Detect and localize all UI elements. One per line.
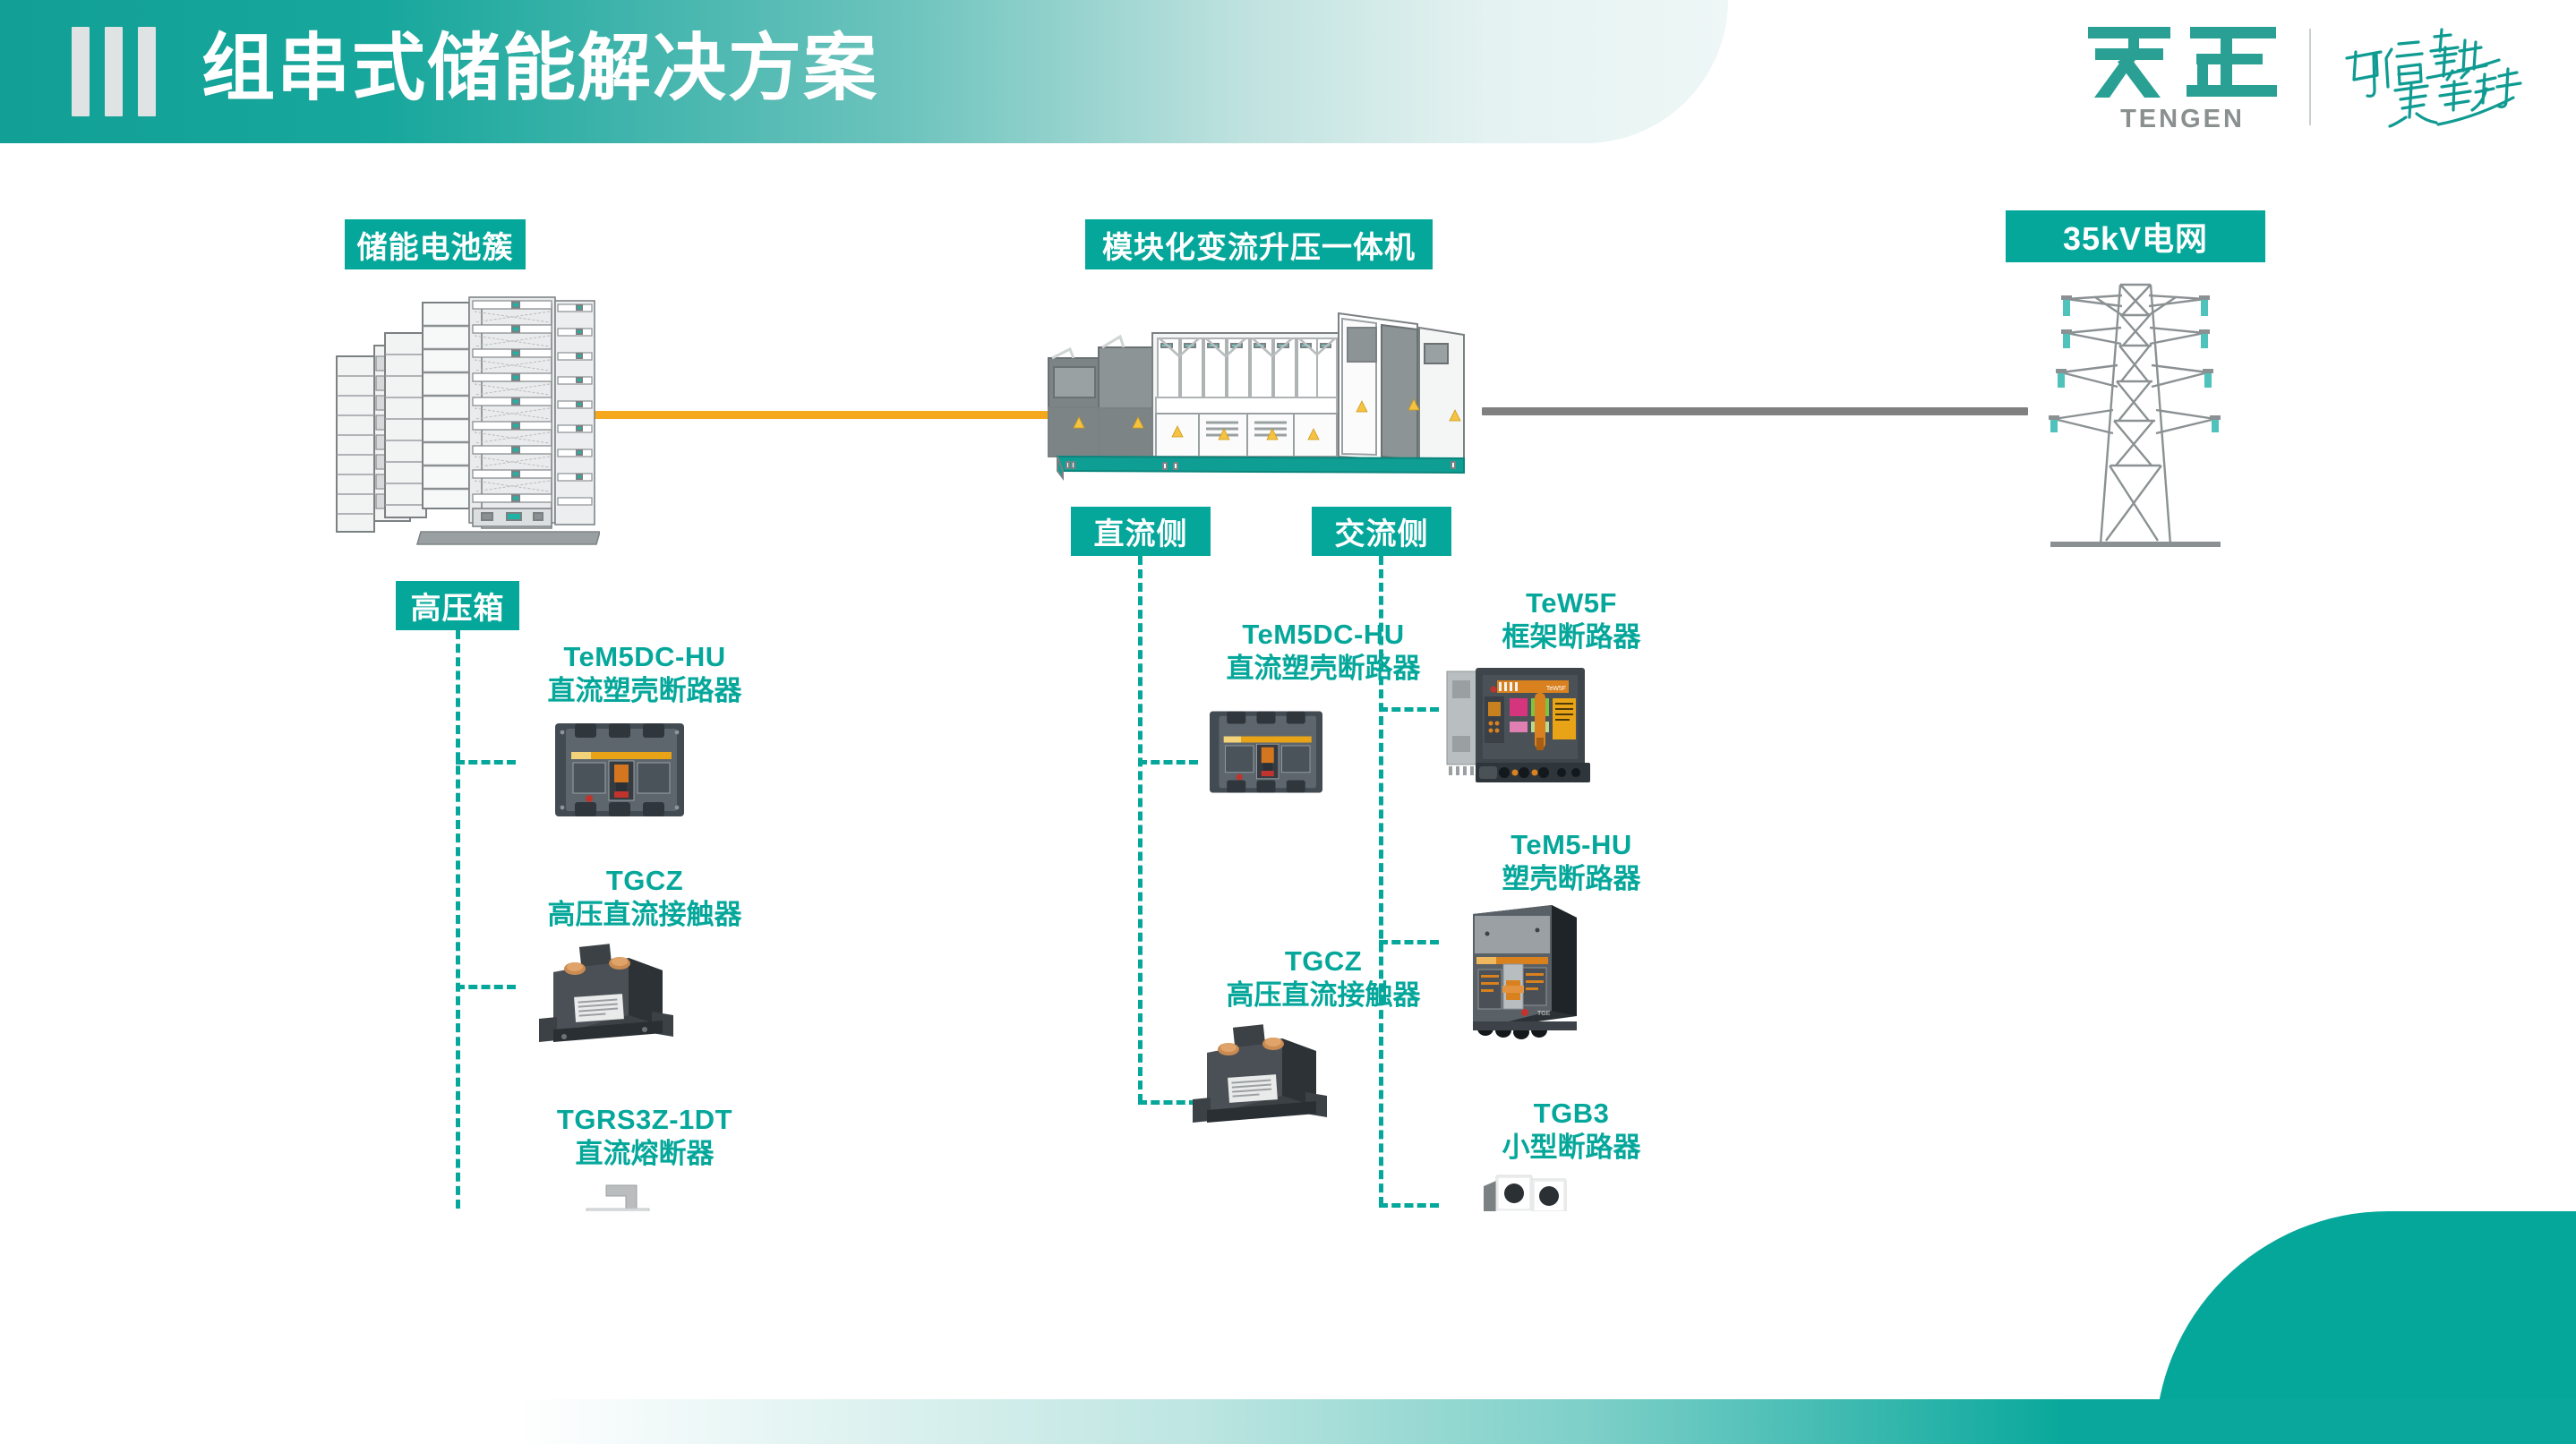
badge-battery-cluster: 储能电池簇 — [345, 219, 526, 269]
badge-pcs-container: 模块化变流升压一体机 — [1085, 219, 1433, 269]
device-name: 直流塑壳断路器 — [1180, 652, 1467, 686]
dc-side-trunk-line — [1138, 556, 1143, 1103]
dc-contactor-icon — [1182, 1021, 1334, 1128]
accent-bar-3 — [138, 27, 156, 116]
device-name: 小型断路器 — [1437, 1131, 1706, 1165]
device-label-tgb3: TGB3 小型断路器 — [1437, 1097, 1706, 1165]
device-name: 高压直流接触器 — [1180, 978, 1467, 1013]
ac-bus-line — [1482, 407, 2028, 415]
device-label-tem5dc-hu-dc: TeM5DC-HU 直流塑壳断路器 — [1180, 618, 1467, 686]
brand-name-en: TENGEN — [2120, 105, 2245, 134]
battery-rack-icon — [331, 279, 600, 575]
device-label-tgcz-hv: TGCZ 高压直流接触器 — [501, 864, 788, 932]
device-label-tew5f: TeW5F 框架断路器 — [1437, 586, 1706, 654]
hv-box-branch-2 — [456, 985, 516, 989]
ac-side-trunk-line — [1379, 556, 1383, 1206]
device-code: TeW5F — [1437, 586, 1706, 620]
footer-bar — [0, 1399, 2576, 1444]
badge-grid: 35kV电网 — [2006, 210, 2265, 262]
device-name: 框架断路器 — [1437, 620, 1706, 654]
device-name: 高压直流接触器 — [501, 898, 788, 932]
brand-mark: TENGEN — [2086, 20, 2279, 134]
footer-mask — [0, 1211, 2155, 1399]
mccb-dc-icon — [1203, 703, 1329, 801]
device-label-tgrs3z-1dt: TGRS3Z-1DT 直流熔断器 — [501, 1103, 788, 1171]
device-code: TGB3 — [1437, 1097, 1706, 1131]
device-code: TGRS3Z-1DT — [501, 1103, 788, 1137]
dc-bus-line — [586, 411, 1052, 419]
device-name: 塑壳断路器 — [1437, 862, 1706, 896]
device-name: 直流熔断器 — [501, 1137, 788, 1171]
accent-bar-1 — [72, 27, 90, 116]
device-label-tgcz-dc: TGCZ 高压直流接触器 — [1180, 944, 1467, 1013]
brand-name-cn-icon — [2086, 20, 2279, 102]
device-label-tem5dc-hu-hv: TeM5DC-HU 直流塑壳断路器 — [501, 640, 788, 708]
header-accent-bars — [72, 27, 156, 116]
device-code: TGCZ — [1180, 944, 1467, 978]
badge-ac-side: 交流侧 — [1312, 507, 1451, 556]
brand-logo: TENGEN — [2086, 20, 2529, 134]
accent-bar-2 — [105, 27, 123, 116]
acb-icon: TeW5F — [1442, 662, 1594, 788]
page-header: 组串式储能解决方案 — [0, 0, 1728, 143]
dc-contactor-icon — [528, 940, 680, 1047]
badge-hv-box: 高压箱 — [396, 581, 519, 630]
transmission-tower-icon — [2015, 276, 2256, 562]
brand-divider — [2309, 29, 2311, 125]
device-code: TeM5-HU — [1437, 828, 1706, 862]
mccb-ac-icon: TGE — [1455, 898, 1589, 1046]
svg-text:TGE: TGE — [1537, 1011, 1551, 1017]
dc-side-branch-1 — [1138, 760, 1198, 765]
mccb-dc-icon — [548, 716, 691, 824]
page-title: 组串式储能解决方案 — [201, 20, 878, 118]
badge-dc-side: 直流侧 — [1071, 507, 1211, 556]
brand-slogan-icon — [2341, 24, 2529, 130]
pcs-container-icon — [1043, 295, 1473, 488]
device-label-tem5-hu: TeM5-HU 塑壳断路器 — [1437, 828, 1706, 896]
svg-text:TeW5F: TeW5F — [1546, 686, 1566, 692]
ac-side-branch-2 — [1379, 940, 1439, 944]
ac-side-branch-1 — [1379, 707, 1439, 712]
device-name: 直流塑壳断路器 — [501, 674, 788, 708]
device-code: TGCZ — [501, 864, 788, 898]
hv-box-branch-1 — [456, 760, 516, 765]
device-code: TeM5DC-HU — [501, 640, 788, 674]
hv-box-trunk-line — [456, 630, 460, 1303]
ac-side-branch-3 — [1379, 1203, 1439, 1208]
device-code: TeM5DC-HU — [1180, 618, 1467, 652]
